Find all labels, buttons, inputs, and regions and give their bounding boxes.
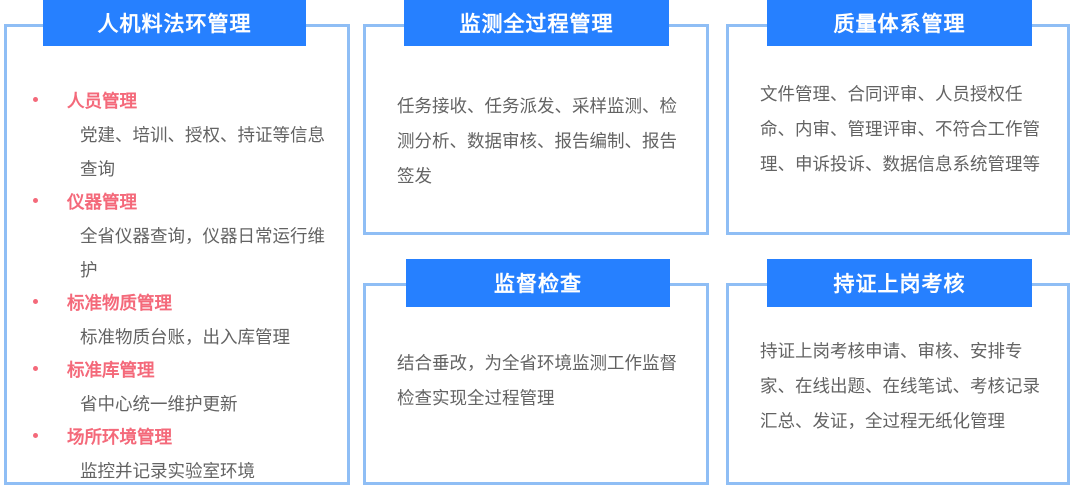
card-people-body: 人员管理 党建、培训、授权、持证等信息查询 仪器管理 全省仪器查询，仪器日常运行… — [29, 85, 339, 488]
bullet-dot-icon — [33, 433, 38, 438]
bullet-dot-icon — [33, 366, 38, 371]
list-item-description: 全省仪器查询，仪器日常运行维护 — [67, 219, 339, 287]
card-supervision-inspection: 结合垂改，为全省环境监测工作监督检查实现全过程管理 — [363, 283, 709, 485]
card-title-process-management: 监测全过程管理 — [404, 0, 669, 46]
bullet-dot-icon — [33, 299, 38, 304]
card-title-people-management: 人机料法环管理 — [43, 0, 306, 46]
list-item[interactable]: 仪器管理 全省仪器查询，仪器日常运行维护 — [29, 186, 339, 287]
list-item-description: 监控并记录实验室环境 — [67, 454, 339, 488]
card-title-supervision-inspection: 监督检查 — [406, 259, 670, 307]
list-item[interactable]: 人员管理 党建、培训、授权、持证等信息查询 — [29, 85, 339, 186]
list-item-title: 仪器管理 — [67, 186, 339, 219]
card-supervision-body: 结合垂改，为全省环境监测工作监督检查实现全过程管理 — [397, 346, 687, 416]
list-item[interactable]: 标准库管理 省中心统一维护更新 — [29, 354, 339, 421]
bullet-dot-icon — [33, 97, 38, 102]
list-item-title: 标准库管理 — [67, 354, 339, 387]
card-quality-system-management: 文件管理、合同评审、人员授权任命、内审、管理评审、不符合工作管理、申诉投诉、数据… — [726, 24, 1070, 235]
card-title-quality-system-management: 质量体系管理 — [767, 0, 1032, 46]
list-item-description: 省中心统一维护更新 — [67, 387, 339, 421]
list-item-title: 标准物质管理 — [67, 287, 339, 320]
list-item[interactable]: 场所环境管理 监控并记录实验室环境 — [29, 421, 339, 488]
people-bullet-list: 人员管理 党建、培训、授权、持证等信息查询 仪器管理 全省仪器查询，仪器日常运行… — [29, 85, 339, 488]
card-process-body: 任务接收、任务派发、采样监测、检测分析、数据审核、报告编制、报告签发 — [397, 89, 682, 194]
list-item-description: 标准物质台账，出入库管理 — [67, 320, 339, 354]
card-people-management: 人员管理 党建、培训、授权、持证等信息查询 仪器管理 全省仪器查询，仪器日常运行… — [4, 24, 350, 485]
card-process-management: 任务接收、任务派发、采样监测、检测分析、数据审核、报告编制、报告签发 — [363, 24, 709, 235]
card-certification-assessment: 持证上岗考核申请、审核、安排专家、在线出题、在线笔试、考核记录汇总、发证，全过程… — [726, 283, 1070, 485]
card-title-certification-assessment: 持证上岗考核 — [767, 259, 1032, 307]
card-certificate-body: 持证上岗考核申请、审核、安排专家、在线出题、在线笔试、考核记录汇总、发证，全过程… — [760, 334, 1050, 439]
list-item[interactable]: 标准物质管理 标准物质台账，出入库管理 — [29, 287, 339, 354]
card-quality-body: 文件管理、合同评审、人员授权任命、内审、管理评审、不符合工作管理、申诉投诉、数据… — [760, 77, 1050, 182]
list-item-description: 党建、培训、授权、持证等信息查询 — [67, 118, 339, 186]
list-item-title: 场所环境管理 — [67, 421, 339, 454]
bullet-dot-icon — [33, 198, 38, 203]
list-item-title: 人员管理 — [67, 85, 339, 118]
